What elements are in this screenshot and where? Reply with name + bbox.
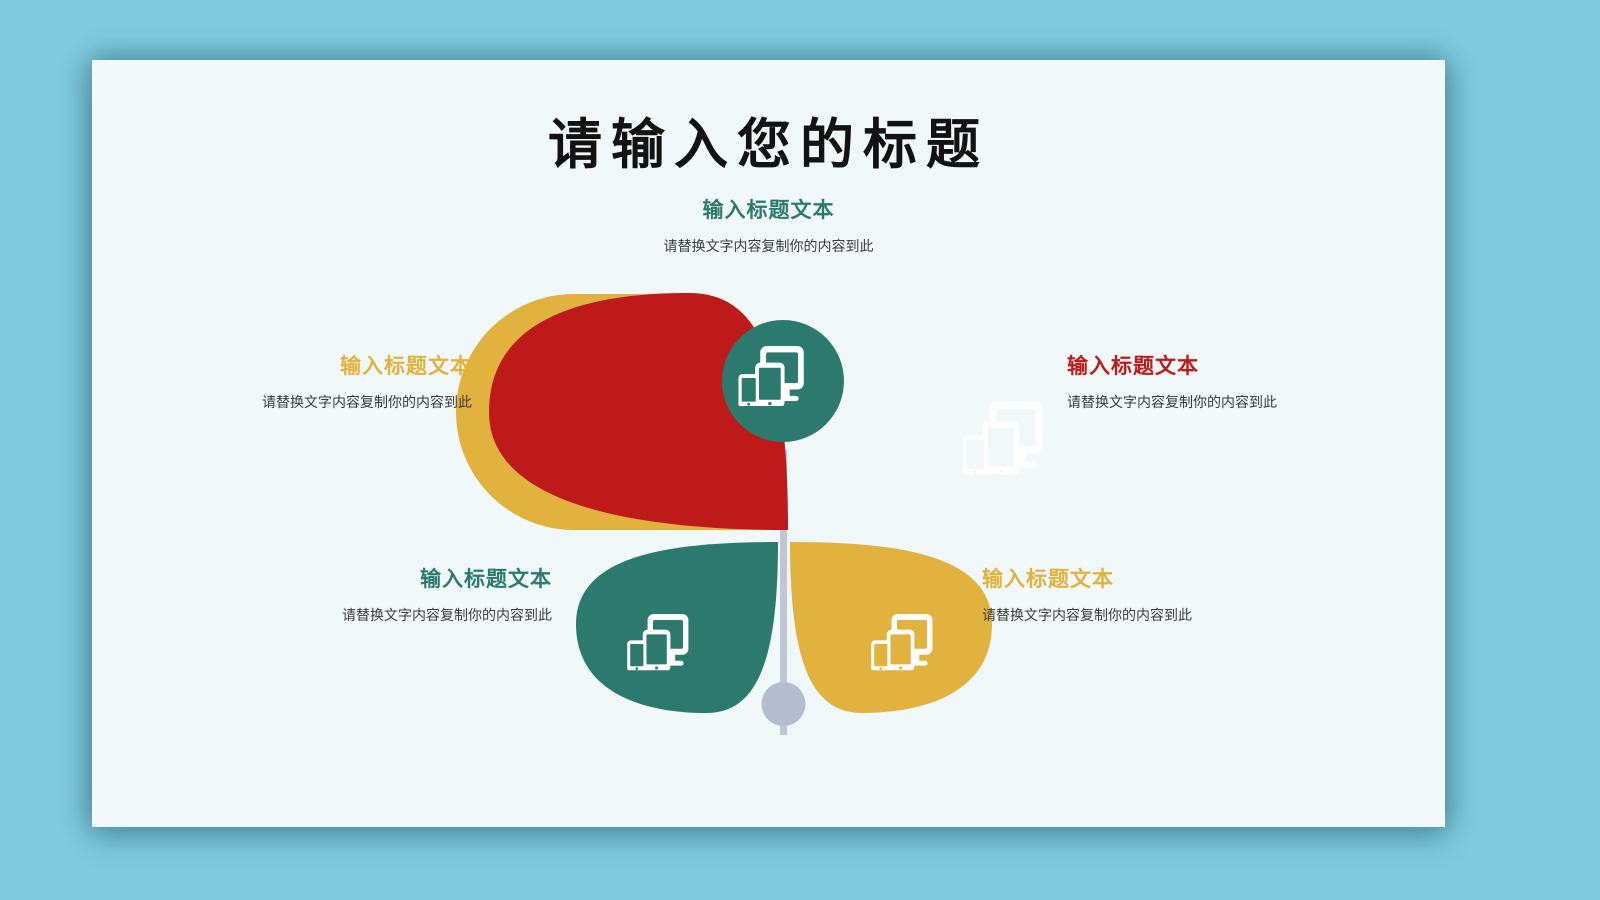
petal-right-bottom[interactable] (790, 542, 992, 713)
petal-right-top-icon (960, 396, 1049, 474)
center-node-icon (736, 342, 809, 406)
presentation-slide: 请输入您的标题 输入标题文本 请替换文字内容复制你的内容到此 (92, 60, 1445, 827)
label-right-bottom: 输入标题文本 请替换文字内容复制你的内容到此 (982, 563, 1332, 626)
top-block-description: 请替换文字内容复制你的内容到此 (639, 236, 899, 258)
label-right-bottom-description: 请替换文字内容复制你的内容到此 (982, 605, 1332, 626)
label-left-top-description: 请替换文字内容复制你的内容到此 (122, 392, 472, 413)
center-node[interactable] (722, 320, 844, 442)
stem-line (780, 450, 787, 735)
stem-end-circle (762, 682, 806, 726)
label-right-top-title: 输入标题文本 (1067, 350, 1417, 380)
label-left-top: 输入标题文本 请替换文字内容复制你的内容到此 (122, 350, 472, 413)
label-right-top-description: 请替换文字内容复制你的内容到此 (1067, 392, 1417, 413)
label-left-top-title: 输入标题文本 (122, 350, 472, 380)
petal-left-top[interactable] (456, 293, 781, 530)
top-text-block: 输入标题文本 请替换文字内容复制你的内容到此 (604, 194, 934, 258)
petal-right-bottom-icon (869, 610, 937, 670)
petal-left-bottom[interactable] (576, 542, 778, 713)
top-block-title: 输入标题文本 (604, 194, 934, 224)
label-right-top: 输入标题文本 请替换文字内容复制你的内容到此 (1067, 350, 1417, 413)
label-left-bottom: 输入标题文本 请替换文字内容复制你的内容到此 (202, 563, 552, 626)
petal-left-bottom-icon (625, 610, 693, 670)
label-right-bottom-title: 输入标题文本 (982, 563, 1332, 593)
screenshot-stage: 请输入您的标题 输入标题文本 请替换文字内容复制你的内容到此 (0, 0, 1600, 900)
label-left-bottom-title: 输入标题文本 (202, 563, 552, 593)
page-title: 请输入您的标题 (92, 100, 1445, 179)
label-left-bottom-description: 请替换文字内容复制你的内容到此 (202, 605, 552, 626)
petal-left-top-icon (576, 396, 665, 474)
petal-right-top[interactable] (489, 293, 1049, 530)
